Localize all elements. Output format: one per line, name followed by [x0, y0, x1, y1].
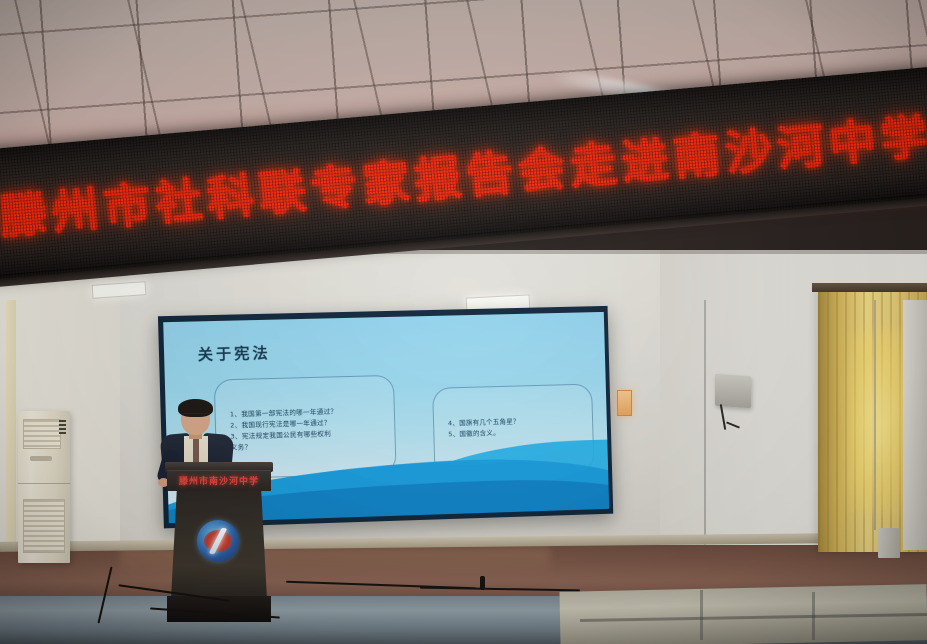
air-conditioner-logo: [30, 456, 52, 461]
desk-divider: [700, 590, 703, 640]
wall-mounted-speaker: [715, 374, 751, 409]
air-conditioner-display-icon: [59, 420, 66, 434]
slide-question-line: 5、国徽的含义。: [448, 427, 520, 440]
wall-cable: [874, 300, 876, 530]
emergency-light-icon: [617, 390, 632, 416]
podium-nameplate: 滕州市南沙河中学: [167, 470, 271, 491]
podium-nameplate-text: 滕州市南沙河中学: [167, 474, 271, 487]
air-conditioner-seam: [18, 483, 70, 484]
curtain-backlight-glow: [848, 330, 908, 515]
right-wall-column: [903, 300, 927, 550]
lecture-hall-photo: 滕州市社科联专家报告会走进南沙河中学 关于宪法 1、我国第一部宪法的哪一年通过？…: [0, 0, 927, 644]
curtain-rod: [812, 283, 927, 292]
floor-air-conditioner: [18, 411, 70, 563]
left-wall-accent-strip: [6, 300, 16, 550]
microphone-stand-icon: [480, 576, 485, 590]
slide-title: 关于宪法: [197, 342, 271, 365]
glasses-icon: [182, 413, 209, 420]
air-conditioner-top-grill: [23, 419, 61, 449]
school-crest-emblem-icon: [197, 520, 239, 562]
air-conditioner-bottom-grill: [23, 499, 65, 553]
wall-corner-edge: [704, 300, 706, 570]
slide-question-line: 义务？: [231, 439, 339, 453]
trash-bin: [878, 528, 900, 558]
